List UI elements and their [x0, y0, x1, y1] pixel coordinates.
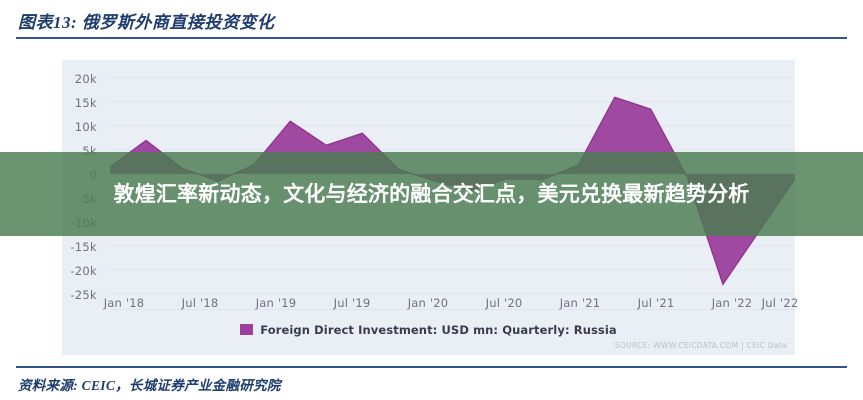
source-note: 资料来源: CEIC，长城证券产业金融研究院	[18, 374, 281, 394]
overlay-headline: 敦煌汇率新动态，文化与经济的融合交汇点，美元兑换最新趋势分析	[42, 179, 822, 209]
x-tick-label: Jul '18	[182, 296, 219, 310]
figure-header: 图表13: 俄罗斯外商直接投资变化	[16, 6, 847, 40]
x-tick-label: Jul '20	[486, 296, 523, 310]
x-tick-label: Jan '21	[560, 296, 601, 310]
x-tick-label: Jul '21	[638, 296, 675, 310]
legend-item-label: Foreign Direct Investment: USD mn: Quart…	[260, 323, 617, 337]
header-divider	[16, 37, 847, 39]
page-title: 图表13: 俄罗斯外商直接投资变化	[18, 8, 274, 33]
chart-legend: Foreign Direct Investment: USD mn: Quart…	[62, 322, 795, 340]
x-tick-label: Jan '20	[408, 296, 449, 310]
chart-source-attribution: SOURCE: WWW.CEICDATA.COM | CEIC Data	[615, 341, 787, 350]
x-tick-label: Jul '22	[762, 296, 799, 310]
x-tick-label: Jan '19	[256, 296, 297, 310]
overlay-banner: 敦煌汇率新动态，文化与经济的融合交汇点，美元兑换最新趋势分析	[0, 152, 863, 236]
legend-item-fdi[interactable]: Foreign Direct Investment: USD mn: Quart…	[240, 323, 617, 337]
x-tick-label: Jan '22	[712, 296, 753, 310]
footer-divider	[16, 366, 847, 368]
chart-figure-page: 图表13: 俄罗斯外商直接投资变化 20k 15k 10k 5k 0 -5k -…	[0, 0, 863, 400]
x-tick-label: Jul '19	[334, 296, 371, 310]
x-tick-label: Jan '18	[104, 296, 145, 310]
legend-swatch-icon	[240, 324, 253, 335]
